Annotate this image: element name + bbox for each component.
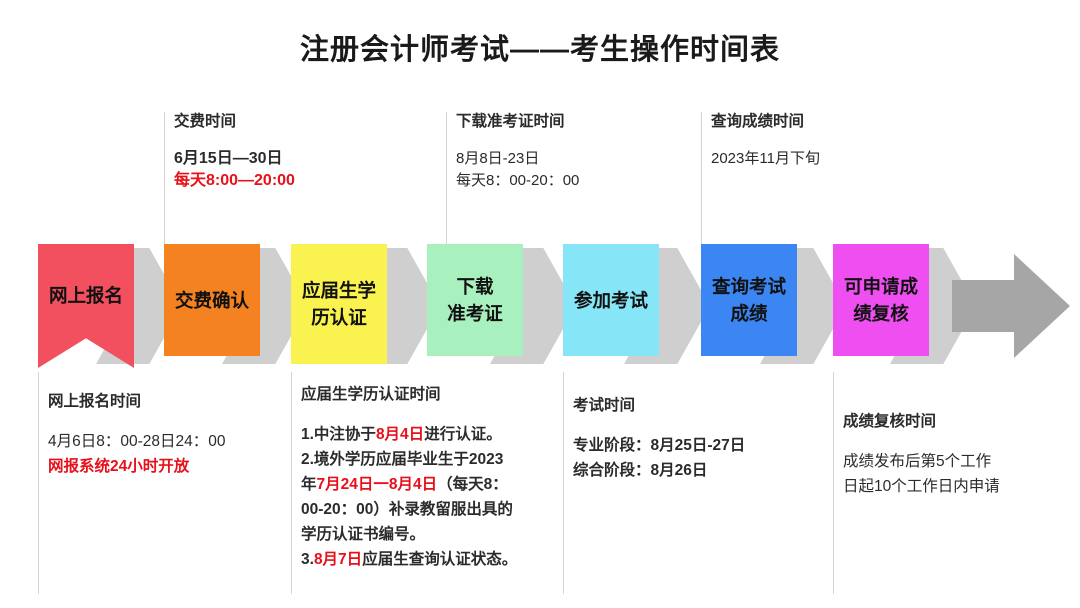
body-text: 学历认证书编号。 xyxy=(301,526,425,543)
bottom-annotation-review-line-1: 成绩发布后第5个工作 xyxy=(843,449,1000,474)
bottom-annotation-exam: 考试时间 专业阶段：8月25日-27日 综合阶段：8月26日 xyxy=(573,396,745,483)
body-text: 应届生查询认证状态。 xyxy=(362,551,517,568)
top-annotation-payment-line-2: 每天8:00—20:00 xyxy=(174,170,295,192)
top-annotation-payment: 交费时间 6月15日—30日 每天8:00—20:00 xyxy=(174,112,295,192)
bottom-annotation-registration: 网上报名时间 4月6日8：00-28日24：00 网报系统24小时开放 xyxy=(48,392,226,479)
connector-rule-exam xyxy=(563,372,564,594)
bottom-annotation-review: 成绩复核时间 成绩发布后第5个工作 日起10个工作日内申请 xyxy=(843,412,1000,499)
step-box-take-exam-label: 参加考试 xyxy=(574,287,648,314)
top-annotation-score-query: 查询成绩时间 2023年11月下旬 xyxy=(711,112,820,170)
step-box-payment-confirm[interactable]: 交费确认 xyxy=(164,244,260,356)
body-text: 年 xyxy=(301,476,317,493)
connector-rule-score xyxy=(701,112,702,252)
end-arrow-icon xyxy=(952,254,1070,358)
bottom-annotation-registration-heading: 网上报名时间 xyxy=(48,392,226,412)
step-box-query-score-label: 查询考试 成绩 xyxy=(712,273,786,327)
bottom-annotation-review-heading: 成绩复核时间 xyxy=(843,412,1000,432)
bottom-annotation-certification-line-3: 年7月24日一8月4日（每天8： xyxy=(301,472,551,497)
step-box-degree-certification[interactable]: 应届生学 历认证 xyxy=(291,244,387,364)
bottom-annotation-certification: 应届生学历认证时间 1.中注协于8月4日进行认证。2.境外学历应届毕业生于202… xyxy=(301,385,551,572)
bottom-annotation-exam-line-1: 专业阶段：8月25日-27日 xyxy=(573,433,745,458)
step-box-online-registration-label: 网上报名 xyxy=(49,282,123,309)
bottom-annotation-certification-heading: 应届生学历认证时间 xyxy=(301,385,551,405)
highlight-date: 8月4日 xyxy=(376,426,424,443)
body-text: 00-20：00）补录教留服出具的 xyxy=(301,501,513,518)
bottom-annotation-certification-line-1: 1.中注协于8月4日进行认证。 xyxy=(301,422,551,447)
body-text: 1.中注协于 xyxy=(301,426,376,443)
top-annotation-payment-heading: 交费时间 xyxy=(174,112,295,132)
highlight-date: 8月7日 xyxy=(314,551,362,568)
body-text: 进行认证。 xyxy=(424,426,502,443)
step-box-score-review-label: 可申请成 绩复核 xyxy=(844,273,918,327)
connector-rule-payment xyxy=(164,112,165,252)
body-text: 3. xyxy=(301,551,314,568)
connector-rule-admission xyxy=(446,112,447,252)
page-title: 注册会计师考试——考生操作时间表 xyxy=(0,26,1080,68)
bottom-annotation-certification-line-4: 00-20：00）补录教留服出具的 xyxy=(301,497,551,522)
step-box-download-ticket-label: 下载 准考证 xyxy=(447,273,503,327)
bottom-annotation-certification-line-5: 学历认证书编号。 xyxy=(301,522,551,547)
top-annotation-admission-ticket-heading: 下载准考证时间 xyxy=(456,112,579,132)
step-box-take-exam[interactable]: 参加考试 xyxy=(563,244,659,356)
bottom-annotation-certification-line-2: 2.境外学历应届毕业生于2023 xyxy=(301,447,551,472)
highlight-date: 7月24日一8月4日 xyxy=(317,476,438,493)
step-box-query-score[interactable]: 查询考试 成绩 xyxy=(701,244,797,356)
bottom-annotation-exam-heading: 考试时间 xyxy=(573,396,745,416)
infographic-canvas: 注册会计师考试——考生操作时间表 交费时间 6月15日—30日 每天8:00—2… xyxy=(0,0,1080,608)
step-box-payment-confirm-label: 交费确认 xyxy=(175,287,249,314)
step-box-download-ticket[interactable]: 下载 准考证 xyxy=(427,244,523,356)
body-text: （每天8： xyxy=(437,476,508,493)
top-annotation-payment-line-1: 6月15日—30日 xyxy=(174,148,295,170)
top-annotation-admission-ticket-line-1: 8月8日-23日 xyxy=(456,148,579,170)
top-annotation-score-query-line-1: 2023年11月下旬 xyxy=(711,148,820,170)
connector-rule-registration xyxy=(38,372,39,594)
bottom-annotation-certification-line-6: 3.8月7日应届生查询认证状态。 xyxy=(301,547,551,572)
bottom-annotation-registration-line-2: 网报系统24小时开放 xyxy=(48,454,226,479)
bottom-annotation-certification-body: 1.中注协于8月4日进行认证。2.境外学历应届毕业生于2023年7月24日一8月… xyxy=(301,422,551,572)
bottom-annotation-review-line-2: 日起10个工作日内申请 xyxy=(843,474,1000,499)
connector-rule-certification xyxy=(291,372,292,594)
step-box-score-review[interactable]: 可申请成 绩复核 xyxy=(833,244,929,356)
top-annotation-admission-ticket-line-2: 每天8：00-20：00 xyxy=(456,170,579,192)
top-annotation-score-query-heading: 查询成绩时间 xyxy=(711,112,820,132)
connector-rule-review xyxy=(833,372,834,594)
bottom-annotation-exam-line-2: 综合阶段：8月26日 xyxy=(573,458,745,483)
step-box-degree-certification-label: 应届生学 历认证 xyxy=(302,277,376,331)
body-text: 2.境外学历应届毕业生于2023 xyxy=(301,451,503,468)
bottom-annotation-registration-line-1: 4月6日8：00-28日24：00 xyxy=(48,429,226,454)
top-annotation-admission-ticket: 下载准考证时间 8月8日-23日 每天8：00-20：00 xyxy=(456,112,579,192)
